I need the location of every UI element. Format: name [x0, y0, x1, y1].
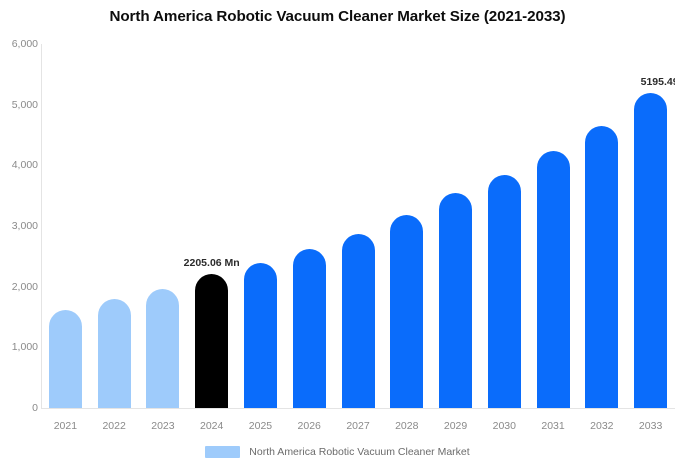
bar-2030[interactable]: [488, 175, 521, 408]
y-axis-tick-labels: 01,0002,0003,0004,0005,0006,000: [0, 0, 38, 469]
x-axis-tick-label: 2026: [298, 420, 321, 432]
bar-2025[interactable]: [244, 263, 277, 408]
x-axis-tick-label: 2021: [54, 420, 77, 432]
bar-2031[interactable]: [537, 151, 570, 408]
bar-2033[interactable]: [634, 93, 667, 408]
y-axis-tick-label: 5,000: [4, 99, 38, 111]
x-axis-line: [41, 408, 675, 409]
bar-2028[interactable]: [390, 215, 423, 408]
x-axis-tick-label: 2027: [346, 420, 369, 432]
x-axis-tick-label: 2029: [444, 420, 467, 432]
value-label-2033: 5195.49 Mn: [641, 76, 675, 88]
x-axis-tick-label: 2032: [590, 420, 613, 432]
bar-2024[interactable]: [195, 274, 228, 408]
bar-2023[interactable]: [146, 289, 179, 408]
y-axis-tick-label: 6,000: [4, 38, 38, 50]
bars-layer: 2205.06 Mn5195.49 Mn: [41, 44, 675, 408]
y-axis-tick-label: 4,000: [4, 159, 38, 171]
bar-2027[interactable]: [342, 234, 375, 408]
chart-title: North America Robotic Vacuum Cleaner Mar…: [0, 8, 675, 25]
chart-container: North America Robotic Vacuum Cleaner Mar…: [0, 0, 675, 469]
legend-swatch-icon: [205, 446, 240, 458]
chart-legend: North America Robotic Vacuum Cleaner Mar…: [0, 446, 675, 458]
bar-2029[interactable]: [439, 193, 472, 408]
y-axis-tick-label: 3,000: [4, 220, 38, 232]
y-axis-tick-label: 0: [4, 402, 38, 414]
x-axis-tick-label: 2031: [541, 420, 564, 432]
x-axis-tick-labels: 2021202220232024202520262027202820292030…: [41, 420, 675, 436]
bar-2026[interactable]: [293, 249, 326, 408]
x-axis-tick-label: 2033: [639, 420, 662, 432]
value-label-2024: 2205.06 Mn: [184, 257, 240, 269]
x-axis-tick-label: 2023: [151, 420, 174, 432]
x-axis-tick-label: 2030: [493, 420, 516, 432]
bar-2032[interactable]: [585, 126, 618, 408]
y-axis-tick-label: 2,000: [4, 281, 38, 293]
bar-2022[interactable]: [98, 299, 131, 408]
x-axis-tick-label: 2028: [395, 420, 418, 432]
x-axis-tick-label: 2024: [200, 420, 223, 432]
bar-2021[interactable]: [49, 310, 82, 408]
legend-label: North America Robotic Vacuum Cleaner Mar…: [249, 446, 469, 458]
y-axis-tick-label: 1,000: [4, 341, 38, 353]
x-axis-tick-label: 2022: [102, 420, 125, 432]
x-axis-tick-label: 2025: [249, 420, 272, 432]
